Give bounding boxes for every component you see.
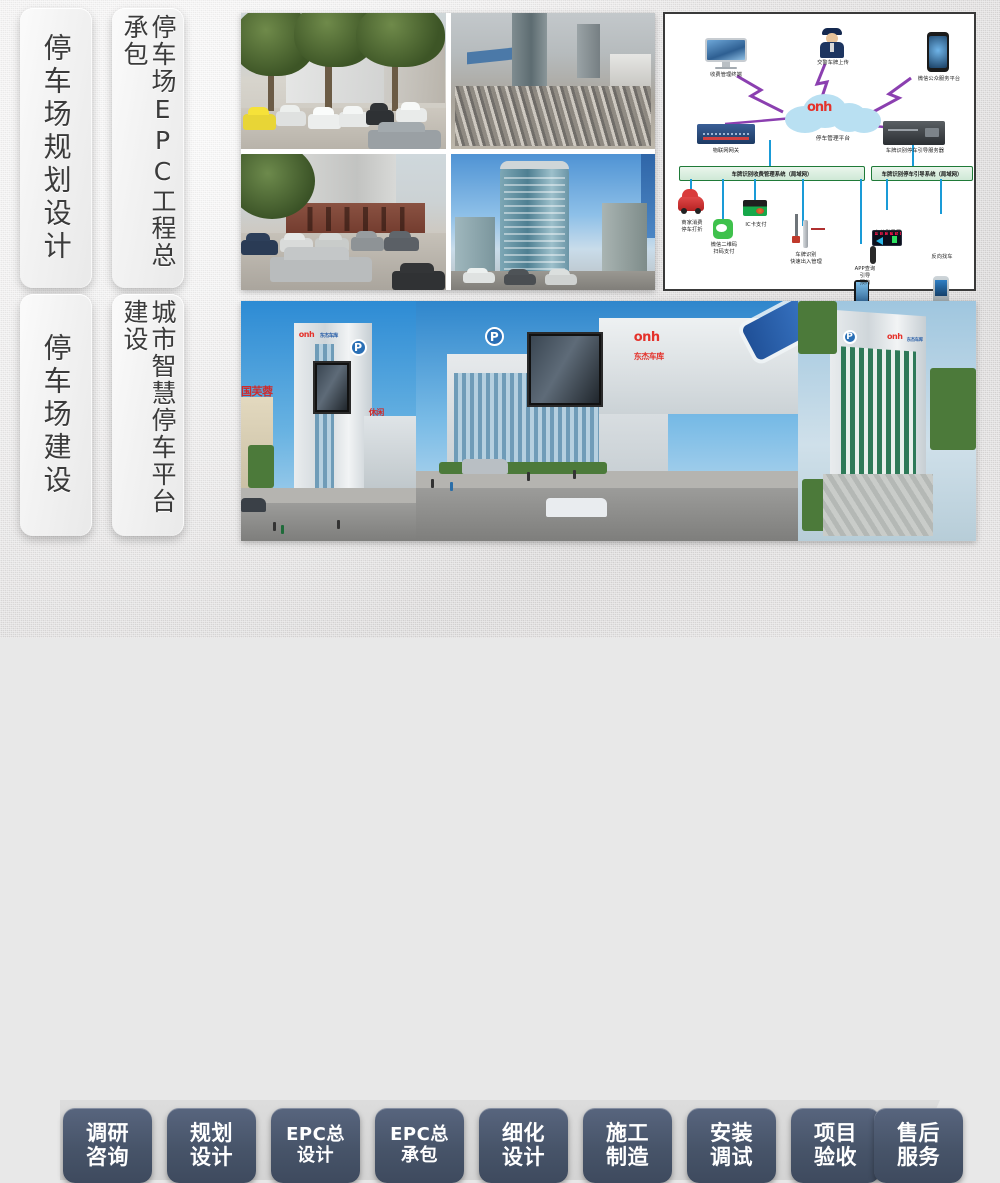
step-line1: EPC总: [390, 1125, 449, 1145]
landscape-green: [798, 301, 837, 354]
sidewalk: [416, 471, 798, 488]
wechat-qr-label: 微信二维码扫码支付: [695, 242, 753, 256]
shop-sign: 国芙蓉: [241, 383, 273, 399]
parked-car: [392, 271, 445, 290]
street-surface: [241, 503, 416, 541]
photo-glass-tower: [451, 154, 656, 290]
blue-roof-shape: [467, 47, 512, 64]
tree-canopy: [356, 13, 446, 67]
pedestrian: [431, 479, 434, 488]
merchant-discount-car-icon: [678, 196, 704, 211]
street-surface: [416, 488, 798, 541]
rendering-aerial-tower: onh 东杰车库 P: [798, 301, 976, 541]
parked-car: [276, 111, 307, 126]
service-card-label: 停车场规划设计: [40, 33, 71, 264]
parking-symbol-badge: P: [350, 339, 367, 356]
step-line2: 承包: [390, 1146, 449, 1166]
rendering-tower-garage: onh 东杰车库 P 国芙蓉 休闲: [241, 301, 416, 541]
pedestrian: [273, 522, 276, 531]
parked-car: [384, 237, 419, 251]
step-line2: 设计: [190, 1146, 233, 1170]
onh-logo: onh: [299, 330, 314, 339]
side-building: [364, 416, 417, 498]
garage-renderings: onh 东杰车库 P 国芙蓉 休闲 onh 东杰车库 P: [241, 301, 976, 541]
process-step-construction-manufacture[interactable]: 施工制造: [583, 1108, 672, 1183]
wechat-qr-icon: [713, 219, 733, 239]
step-line1: 项目: [814, 1122, 857, 1146]
step-line1: 规划: [190, 1122, 233, 1146]
step-line2: 服务: [897, 1146, 940, 1170]
step-line1: 施工: [606, 1122, 649, 1146]
parked-car: [351, 237, 384, 251]
tree-shape: [248, 445, 274, 488]
glass-tower: [500, 164, 570, 273]
photo-street-parking: [241, 13, 446, 149]
building-shape: [602, 203, 647, 271]
rendered-car: [462, 459, 508, 473]
parked-car: [396, 108, 427, 122]
parked-car: [308, 114, 341, 129]
smart-parking-system-diagram: 收费管理终端 交警车牌上传 微信公众服务平台 onh 停车管理平台 物联网网关 …: [663, 12, 976, 291]
pedestrian: [573, 470, 576, 479]
photo-aerial-parking: [451, 13, 656, 149]
merchant-discount-label: 商家消费停车打折: [665, 220, 719, 234]
service-card-construction[interactable]: 停车场建设: [20, 294, 92, 536]
building-shape: [610, 54, 651, 89]
space-guide-screen-label: 车位引导屏: [863, 230, 913, 237]
person-figure-icon: [870, 246, 876, 264]
poster-root: 停车场规划设计 停车场EPC工程总承包 停车场建设 城市智慧停车平台建设: [0, 0, 1000, 638]
process-step-install-commission[interactable]: 安装调试: [687, 1108, 776, 1183]
service-card-smart-platform[interactable]: 城市智慧停车平台建设: [112, 294, 184, 536]
process-step-planning-design[interactable]: 规划设计: [167, 1108, 256, 1183]
ic-card-icon: [743, 200, 767, 216]
pedestrian: [281, 525, 284, 534]
parking-symbol-badge: P: [485, 327, 504, 346]
tower-cap: [500, 161, 570, 169]
service-card-label: 停车场建设: [40, 333, 71, 498]
process-step-survey-consult[interactable]: 调研咨询: [63, 1108, 152, 1183]
parked-car: [504, 274, 537, 285]
parked-car: [270, 257, 372, 281]
pedestrian: [527, 472, 530, 481]
service-card-label: 城市智慧停车平台建设: [120, 299, 176, 531]
process-step-epc-contract[interactable]: EPC总承包: [375, 1108, 464, 1183]
brand-name-cn: 东杰车库: [907, 337, 923, 343]
parked-car: [463, 272, 496, 283]
pedestrian: [337, 520, 340, 529]
billboard-ad: [313, 361, 352, 414]
process-step-project-acceptance[interactable]: 项目验收: [791, 1108, 880, 1183]
app-query-label: APP查询引导预约: [843, 266, 887, 287]
project-process-flow: 调研咨询 规划设计 EPC总设计 EPC总承包 细化设计 施工制造 安装调试 项…: [0, 548, 1000, 638]
service-card-planning-design[interactable]: 停车场规划设计: [20, 8, 92, 288]
building-shape: [455, 217, 496, 271]
rendered-car: [241, 498, 266, 512]
reverse-car-find-label: 反向找车: [919, 254, 965, 261]
step-line2: 验收: [814, 1146, 857, 1170]
brand-name-cn: 东杰车库: [634, 351, 664, 362]
photo-brick-building-parking: [241, 154, 446, 290]
step-line1: EPC总: [286, 1125, 345, 1145]
service-card-label: 停车场EPC工程总承包: [120, 14, 176, 283]
parked-car: [368, 130, 442, 149]
onh-logo: onh: [887, 332, 902, 341]
parked-car: [545, 274, 578, 285]
pedestrian: [450, 482, 453, 491]
step-line2: 调试: [710, 1146, 753, 1170]
rendered-car: [546, 498, 607, 517]
step-line1: 细化: [502, 1122, 545, 1146]
ic-card-label: IC卡支付: [735, 222, 777, 229]
step-line1: 安装: [710, 1122, 753, 1146]
sidewalk: [241, 488, 416, 502]
plate-fast-access-label: 车牌识别快速出入管理: [777, 252, 835, 266]
step-line2: 制造: [606, 1146, 649, 1170]
process-step-epc-design[interactable]: EPC总设计: [271, 1108, 360, 1183]
parked-car: [241, 240, 278, 255]
step-line1: 调研: [86, 1122, 129, 1146]
landscape-green: [930, 368, 976, 450]
parking-project-photos: [241, 13, 655, 290]
service-card-epc-contracting[interactable]: 停车场EPC工程总承包: [112, 8, 184, 288]
brand-name-cn: 东杰车库: [320, 332, 338, 339]
rendering-showroom-garage: onh 东杰车库 P: [416, 301, 798, 541]
billboard-ad: [527, 332, 603, 406]
parking-symbol-badge: P: [843, 330, 857, 344]
plaza-paving: [823, 474, 933, 536]
process-step-detailed-design[interactable]: 细化设计: [479, 1108, 568, 1183]
step-line1: 售后: [897, 1122, 940, 1146]
process-step-after-sales[interactable]: 售后服务: [874, 1108, 963, 1183]
step-line2: 咨询: [86, 1146, 129, 1170]
parking-rows: [455, 86, 651, 146]
step-line2: 设计: [502, 1146, 545, 1170]
parked-car: [243, 114, 276, 130]
tower-green-glass: [841, 346, 916, 486]
step-line2: 设计: [286, 1146, 345, 1166]
building-shape: [577, 24, 599, 78]
onh-logo: onh: [634, 330, 660, 345]
